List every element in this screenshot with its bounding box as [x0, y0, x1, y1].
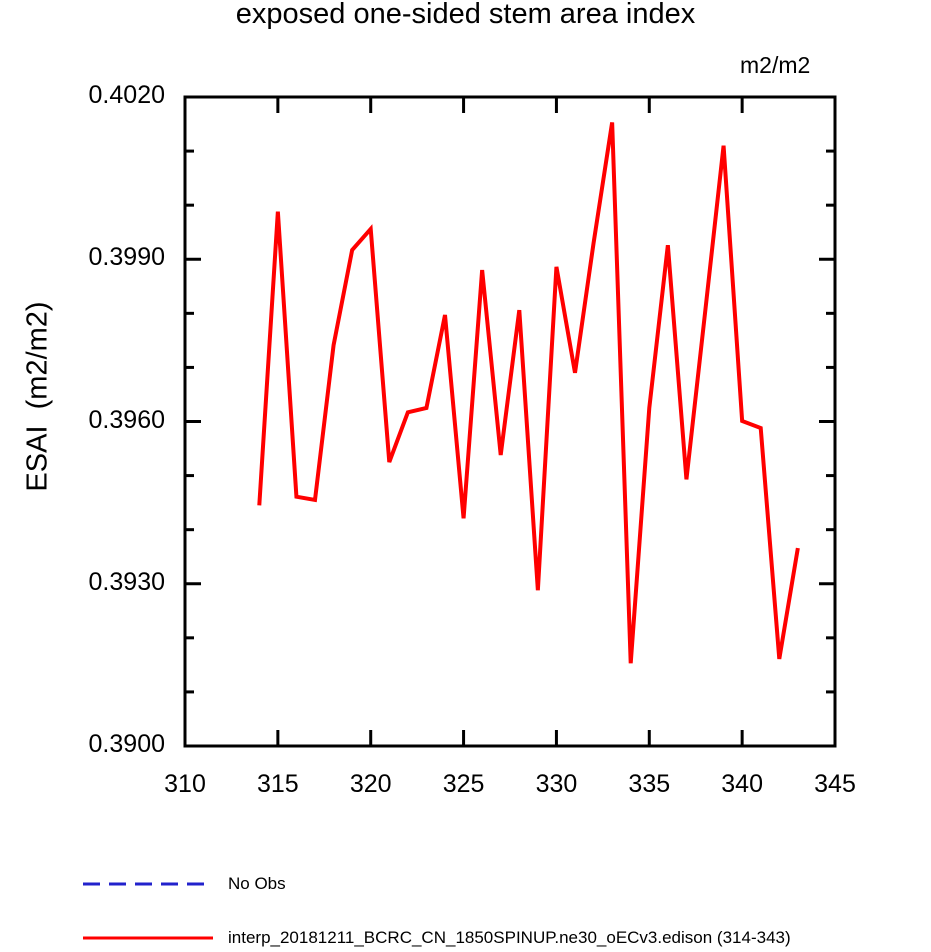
- x-tick-label: 310: [140, 770, 230, 799]
- x-tick-label: 335: [604, 770, 694, 799]
- data-line-series-0: [259, 122, 798, 663]
- x-tick-label: 345: [790, 770, 880, 799]
- x-tick-label: 315: [233, 770, 323, 799]
- y-tick-label: 0.4020: [25, 81, 165, 110]
- y-tick-label: 0.3900: [25, 730, 165, 759]
- legend-label-interp: interp_20181211_BCRC_CN_1850SPINUP.ne30_…: [228, 928, 791, 948]
- data-series-group: [259, 122, 798, 663]
- legend-label-no-obs: No Obs: [228, 874, 286, 894]
- y-tick-label: 0.3990: [25, 243, 165, 272]
- x-tick-label: 340: [697, 770, 787, 799]
- y-tick-label: 0.3960: [25, 406, 165, 435]
- plot-svg: [0, 0, 931, 952]
- x-tick-label: 320: [326, 770, 416, 799]
- x-tick-label: 325: [419, 770, 509, 799]
- axis-ticks: [185, 97, 835, 746]
- y-tick-label: 0.3930: [25, 568, 165, 597]
- chart-container: exposed one-sided stem area index m2/m2 …: [0, 0, 931, 952]
- x-tick-label: 330: [511, 770, 601, 799]
- plot-frame: [185, 97, 835, 746]
